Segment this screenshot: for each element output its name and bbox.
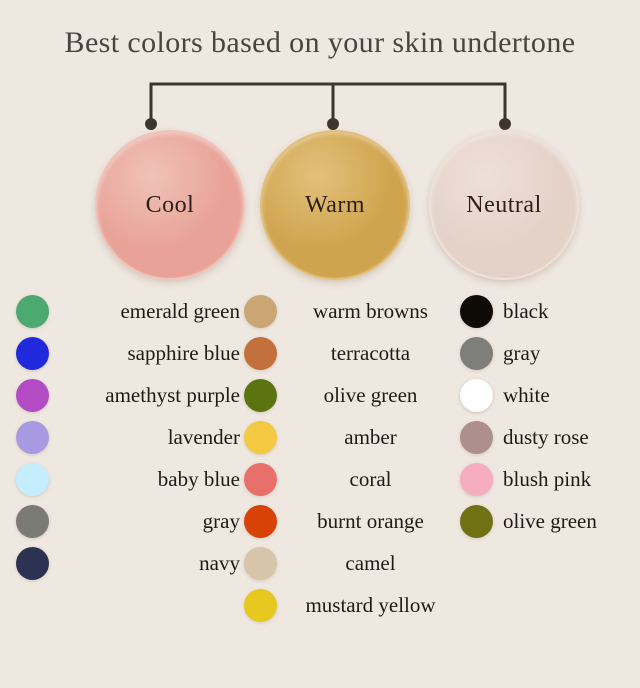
color-label: gray: [493, 341, 640, 366]
color-swatch-icon: [244, 337, 277, 370]
connector-dot-cool: [145, 118, 157, 130]
color-swatch-icon: [16, 421, 49, 454]
color-row[interactable]: white: [460, 374, 640, 416]
color-swatch-icon: [244, 547, 277, 580]
color-swatch-icon: [460, 337, 493, 370]
color-swatch-icon: [244, 421, 277, 454]
color-column-cool: emerald greensapphire blueamethyst purpl…: [16, 290, 244, 584]
undertone-label-neutral: Neutral: [466, 192, 541, 219]
color-label: sapphire blue: [49, 341, 244, 366]
color-label: olive green: [493, 509, 640, 534]
color-label: camel: [277, 551, 460, 576]
color-swatch-icon: [244, 589, 277, 622]
color-label: dusty rose: [493, 425, 640, 450]
color-row[interactable]: baby blue: [16, 458, 244, 500]
undertone-label-warm: Warm: [305, 192, 365, 219]
color-row[interactable]: burnt orange: [244, 500, 460, 542]
color-row[interactable]: gray: [16, 500, 244, 542]
undertone-circle-neutral[interactable]: Neutral: [429, 130, 579, 280]
color-swatch-icon: [16, 547, 49, 580]
color-row[interactable]: dusty rose: [460, 416, 640, 458]
undertone-circle-warm[interactable]: Warm: [260, 130, 410, 280]
color-label: black: [493, 299, 640, 324]
color-swatch-icon: [460, 295, 493, 328]
color-row[interactable]: gray: [460, 332, 640, 374]
color-swatch-icon: [16, 505, 49, 538]
color-label: baby blue: [49, 467, 244, 492]
color-label: coral: [277, 467, 460, 492]
connector-bracket: [0, 76, 640, 136]
color-row[interactable]: coral: [244, 458, 460, 500]
color-row[interactable]: olive green: [244, 374, 460, 416]
page-title: Best colors based on your skin undertone: [0, 26, 640, 60]
color-swatch-icon: [16, 463, 49, 496]
color-label: emerald green: [49, 299, 244, 324]
color-swatch-icon: [16, 379, 49, 412]
color-row[interactable]: sapphire blue: [16, 332, 244, 374]
color-swatch-icon: [16, 295, 49, 328]
undertone-circles-row: Cool Warm Neutral: [0, 130, 640, 282]
color-row[interactable]: warm browns: [244, 290, 460, 332]
color-row[interactable]: lavender: [16, 416, 244, 458]
color-column-neutral: blackgraywhitedusty roseblush pinkolive …: [460, 290, 640, 542]
color-swatch-icon: [460, 379, 493, 412]
color-label: lavender: [49, 425, 244, 450]
color-swatch-icon: [244, 295, 277, 328]
color-label: amber: [277, 425, 460, 450]
color-row[interactable]: olive green: [460, 500, 640, 542]
color-row[interactable]: emerald green: [16, 290, 244, 332]
connector-dot-warm: [327, 118, 339, 130]
color-swatch-icon: [460, 421, 493, 454]
color-column-warm: warm brownsterracottaolive greenambercor…: [244, 290, 460, 626]
color-label: warm browns: [277, 299, 460, 324]
color-row[interactable]: navy: [16, 542, 244, 584]
color-swatch-icon: [460, 463, 493, 496]
infographic-root: Best colors based on your skin undertone…: [0, 0, 640, 688]
color-label: amethyst purple: [49, 383, 244, 408]
color-swatch-icon: [244, 379, 277, 412]
color-label: navy: [49, 551, 244, 576]
color-row[interactable]: black: [460, 290, 640, 332]
color-lists: emerald greensapphire blueamethyst purpl…: [0, 290, 640, 688]
color-row[interactable]: amethyst purple: [16, 374, 244, 416]
color-label: terracotta: [277, 341, 460, 366]
color-row[interactable]: blush pink: [460, 458, 640, 500]
color-label: burnt orange: [277, 509, 460, 534]
color-swatch-icon: [16, 337, 49, 370]
color-row[interactable]: amber: [244, 416, 460, 458]
color-row[interactable]: terracotta: [244, 332, 460, 374]
color-label: blush pink: [493, 467, 640, 492]
color-label: mustard yellow: [277, 593, 460, 618]
undertone-label-cool: Cool: [146, 192, 195, 219]
color-row[interactable]: mustard yellow: [244, 584, 460, 626]
color-swatch-icon: [460, 505, 493, 538]
color-label: white: [493, 383, 640, 408]
color-row[interactable]: camel: [244, 542, 460, 584]
color-label: gray: [49, 509, 244, 534]
color-label: olive green: [277, 383, 460, 408]
undertone-circle-cool[interactable]: Cool: [95, 130, 245, 280]
color-swatch-icon: [244, 463, 277, 496]
color-swatch-icon: [244, 505, 277, 538]
connector-dot-neutral: [499, 118, 511, 130]
